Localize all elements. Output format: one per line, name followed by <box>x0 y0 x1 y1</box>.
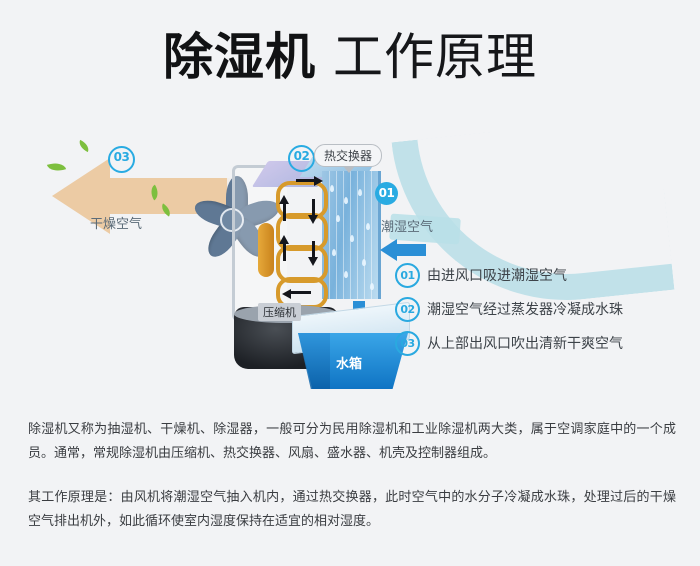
evaporator-fin <box>336 171 337 299</box>
leaf-icon <box>77 140 91 152</box>
flow-arrow-left <box>282 289 291 299</box>
badge-03-dry-air: 03 <box>108 146 135 173</box>
air-inlet-arrow-shaft <box>396 244 426 256</box>
flow-arrow-up <box>279 195 289 204</box>
page-root: 除湿机 工作原理 <box>0 0 700 566</box>
refrigerant-coil-assembly <box>252 177 330 299</box>
title-light: 工作原理 <box>316 28 537 86</box>
flow-arrow-down <box>308 257 318 266</box>
title-bold: 除湿机 <box>163 28 316 86</box>
water-droplet <box>366 223 370 230</box>
description-block: 除湿机又称为抽湿机、干燥机、除湿器，一般可分为民用除湿机和工业除湿机两大类，属于… <box>28 418 676 554</box>
humid-air-label: 潮湿空气 <box>381 216 433 235</box>
legend-badge-02: 02 <box>395 297 420 322</box>
badge-01-humid-air: 01 <box>375 182 398 205</box>
page-title: 除湿机 工作原理 <box>0 28 700 86</box>
legend-item-01: 01 由进风口吸进潮湿空气 <box>395 258 685 292</box>
evaporator-fin <box>371 171 372 299</box>
dry-air-label: 干燥空气 <box>90 213 142 232</box>
water-droplet <box>336 215 340 222</box>
legend-badge-03: 03 <box>395 331 420 356</box>
evaporator-block <box>322 171 381 299</box>
flow-arrow-stem <box>283 203 286 221</box>
flow-arrow-stem <box>291 291 311 294</box>
flow-arrow-stem <box>296 179 314 182</box>
flow-arrow-up <box>279 235 289 244</box>
accumulator-cylinder <box>258 223 274 277</box>
badge-02-heat-exchanger: 02 <box>288 145 315 172</box>
description-paragraph-1: 除湿机又称为抽湿机、干燥机、除湿器，一般可分为民用除湿机和工业除湿机两大类，属于… <box>28 418 676 466</box>
legend-text-01: 由进风口吸进潮湿空气 <box>427 265 567 285</box>
legend-item-03: 03 从上部出风口吹出清新干爽空气 <box>395 326 685 360</box>
flow-arrow-down <box>308 215 318 224</box>
legend-list: 01 由进风口吸进潮湿空气 02 潮湿空气经过蒸发器冷凝成水珠 03 从上部出风… <box>395 258 685 360</box>
compressor-label: 压缩机 <box>258 303 301 321</box>
title-text: 除湿机 工作原理 <box>163 28 537 86</box>
legend-item-02: 02 潮湿空气经过蒸发器冷凝成水珠 <box>395 292 685 326</box>
water-droplet <box>344 271 348 278</box>
evaporator-fin <box>364 171 365 299</box>
evaporator-fin <box>343 171 344 299</box>
heat-exchanger-callout: 热交换器 <box>314 144 382 167</box>
water-tank-label: 水箱 <box>336 353 362 372</box>
legend-badge-01: 01 <box>395 263 420 288</box>
legend-text-03: 从上部出风口吹出清新干爽空气 <box>427 333 623 353</box>
water-droplet <box>344 197 348 204</box>
water-droplet <box>370 283 374 290</box>
flow-arrow-stem <box>283 243 286 261</box>
water-droplet <box>332 249 336 256</box>
water-droplet <box>358 189 362 196</box>
flow-arrow-right <box>314 176 323 186</box>
water-droplet <box>362 259 366 266</box>
water-droplet <box>350 235 354 242</box>
water-droplet <box>330 185 334 192</box>
legend-text-02: 潮湿空气经过蒸发器冷凝成水珠 <box>427 299 623 319</box>
description-paragraph-2: 其工作原理是：由风机将潮湿空气抽入机内，通过热交换器，此时空气中的水分子冷凝成水… <box>28 486 676 534</box>
